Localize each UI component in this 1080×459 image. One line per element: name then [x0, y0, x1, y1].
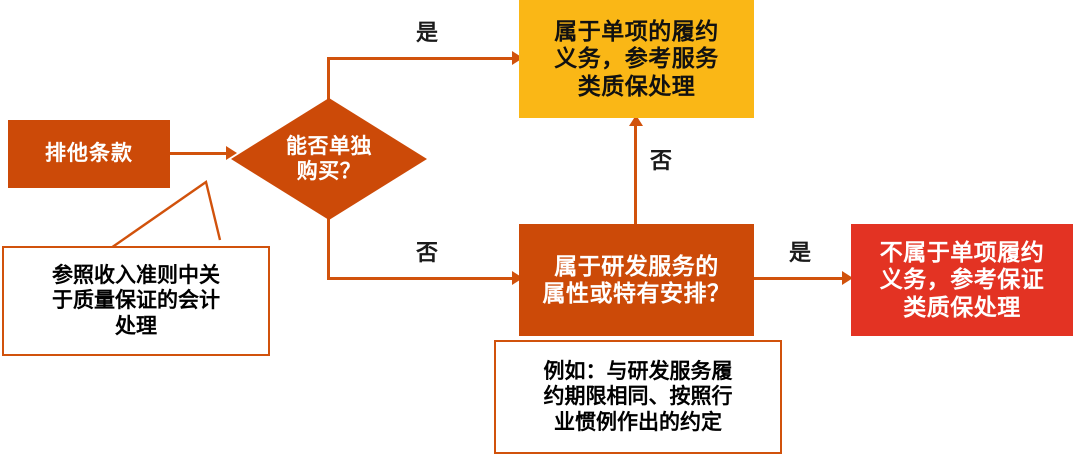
node-single-performance-obligation[interactable]: 属于单项的履约 义务，参考服务 类质保处理	[519, 0, 754, 118]
node-rd-service-attribute[interactable]: 属于研发服务的 属性或特有安排？	[519, 224, 754, 336]
connector-decision-yes-vertical	[327, 57, 330, 102]
callout-example-arrangement: 例如：与研发服务履 约期限相同、按照行 业惯例作出的约定	[494, 340, 782, 454]
callout-warranty-tail-icon	[110, 178, 250, 250]
connector-decision-no-vertical	[327, 216, 330, 280]
flowchart-canvas: 是 否 否 是 排他条款 能否单独 购买？ 属于单项的履约 义务，参考服务 类质…	[0, 0, 1080, 459]
connector-decision-yes-horizontal	[327, 57, 519, 60]
node-decision-can-purchase-separately[interactable]: 能否单独 购买？	[231, 98, 427, 220]
node-not-single-performance-obligation[interactable]: 不属于单项履约 义务，参考保证 类质保处理	[851, 224, 1073, 336]
node-decision-label: 能否单独 购买？	[231, 98, 427, 220]
connector-exclusive-to-decision	[170, 152, 232, 155]
edge-label-decision-yes: 是	[416, 22, 438, 44]
edge-label-rd-no: 否	[650, 150, 672, 172]
callout-warranty-accounting: 参照收入准则中关 于质量保证的会计 处理	[2, 246, 270, 356]
connector-rd-yes-horizontal	[754, 277, 846, 280]
connector-decision-no-horizontal	[327, 277, 519, 280]
edge-label-rd-yes: 是	[789, 242, 811, 264]
edge-label-decision-no: 否	[416, 242, 438, 264]
connector-rd-no-vertical	[634, 124, 637, 225]
node-exclusive-clause[interactable]: 排他条款	[8, 120, 170, 188]
